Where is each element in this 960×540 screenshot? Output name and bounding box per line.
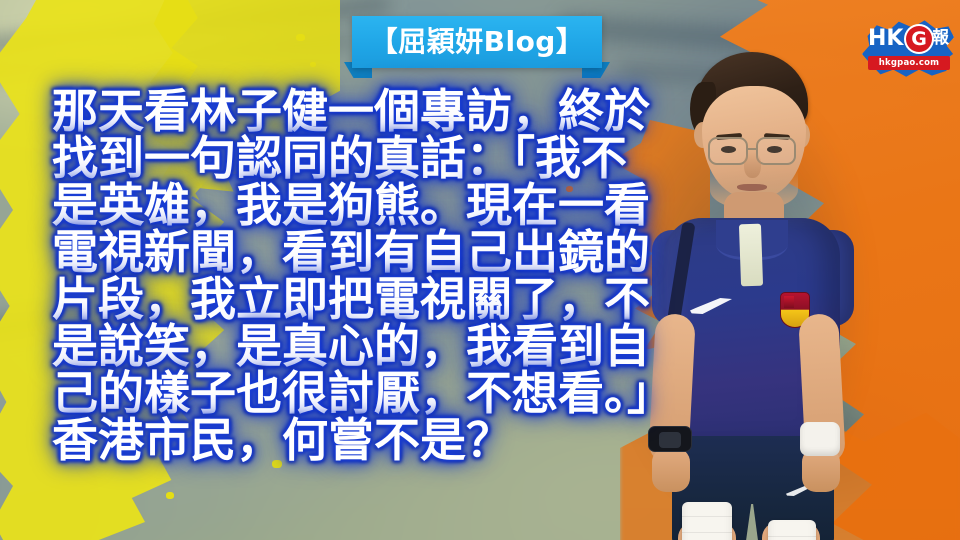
person-hand-left (652, 448, 690, 492)
logo-hk-text: HK (868, 28, 903, 50)
logo-g-icon: G (906, 26, 932, 52)
paint-fleck (296, 34, 305, 41)
headline-line: 那天看林子健一個專訪，終於 (52, 88, 652, 135)
paint-fleck (166, 492, 174, 499)
eyeglasses-icon (756, 137, 796, 165)
headline-line: 是英雄，我是狗熊。現在一看 (52, 182, 652, 229)
paint-fleck (310, 62, 316, 67)
bandage-strip (682, 516, 732, 517)
headline-line: 香港市民，何嘗不是？ (52, 417, 652, 464)
banner-label: 【屈穎妍Blog】 (370, 28, 585, 56)
blog-banner: 【屈穎妍Blog】 (352, 16, 602, 78)
banner-body: 【屈穎妍Blog】 (352, 16, 602, 68)
wristwatch-icon (648, 426, 692, 452)
person-nose (744, 152, 761, 178)
thigh-bandage-right (768, 520, 816, 540)
person-mouth (737, 184, 767, 191)
headline-line: 己的樣子也很討厭，不想看。」 (52, 370, 652, 417)
wrist-bandage (800, 422, 840, 456)
hkgpao-logo[interactable]: HK G 報 hkgpao.com (862, 18, 954, 78)
headline-block: 那天看林子健一個專訪，終於 找到一句認同的真話：「我不 是英雄，我是狗熊。現在一… (52, 88, 652, 464)
bandage-strip (768, 536, 816, 537)
eyeglasses-icon (708, 137, 748, 165)
logo-url-text: hkgpao.com (868, 56, 950, 70)
bandage-strip (682, 532, 732, 533)
shirt-placket (739, 224, 763, 287)
headline-line: 是說笑，是真心的，我看到自 (52, 323, 652, 370)
headline-line: 找到一句認同的真話：「我不 (52, 135, 652, 182)
thigh-bandage-left (682, 502, 732, 540)
headline-line: 片段，我立即把電視關了，不 (52, 276, 652, 323)
promo-graphic: 【屈穎妍Blog】 HK G 報 hkgpao.com 那天看林子健一個專訪，終… (0, 0, 960, 540)
logo-bao-text: 報 (932, 30, 949, 47)
eyeglasses-bridge (748, 148, 758, 150)
headline-line: 電視新聞，看到有自己出鏡的 (52, 229, 652, 276)
